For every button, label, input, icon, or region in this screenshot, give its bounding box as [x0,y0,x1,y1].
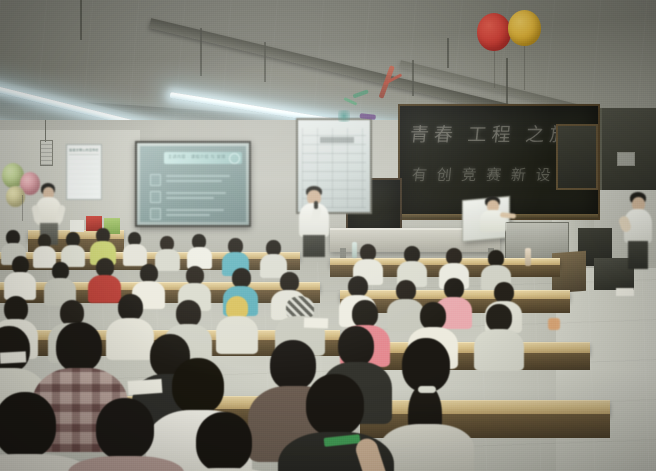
slide-title-text: 主讲内容 · 课程介绍 与 安排 [168,154,226,160]
audience-body [88,275,121,303]
light-hanger [447,38,449,68]
slide-text-line [166,180,222,182]
audience-head [338,326,374,366]
slide-bullet-marker [150,191,161,203]
audience-head [226,296,248,318]
audience-head [402,338,450,392]
bottle-on-desk [352,242,357,258]
framed-board-far-right [600,108,656,190]
light-hanger [80,0,82,40]
audience-body [387,299,424,331]
balloon-string [524,44,525,90]
whiteboard-highlight-row [320,137,354,143]
balloon-yellow [508,10,541,46]
hair-tie [418,386,436,393]
presenter-pants [303,235,325,257]
slide-bullet-marker [150,208,161,220]
audience-body [380,424,474,471]
slide-text-line [166,197,214,199]
audience-head [486,304,512,332]
audience-head-cap [286,296,314,318]
audience-head [348,276,368,297]
right-person-pants [628,241,648,269]
light-hanger [200,28,202,76]
poster-header: 班级文明公约宣传栏 [69,147,99,155]
audience-head [172,358,224,414]
bottle-on-desk [525,248,531,266]
audience-head [280,272,299,292]
light-hanger [264,42,266,82]
paper-on-desk [304,318,328,329]
balloon-red [477,13,511,51]
classroom-photo: 青春 工程 之旅 有 创 竞 赛 新 设 计 大 赛 主讲内容 · 课程介绍 与… [0,0,656,471]
audience-head [232,268,251,288]
blackboard-chalk-line-1: 青春 工程 之旅 [409,120,575,147]
paper-on-desk [128,379,163,395]
desk-row-1-right [360,400,610,415]
speaker-wire [45,120,46,142]
audience-body [216,316,258,354]
wall-poster: 班级文明公约宣传栏 [66,144,102,200]
projection-screen: 主讲内容 · 课程介绍 与 安排 [135,141,251,227]
slide-bullet-marker [150,174,161,186]
audience-body [474,329,524,371]
audience-head [96,398,154,460]
slide-text-line [166,214,210,216]
audience-body [155,249,180,271]
balloon-string [494,48,495,88]
cup-on-desk [548,318,560,330]
wall-speaker [40,140,53,166]
presenter-microphone [314,201,318,209]
slide-text-line [166,192,226,194]
streamer-teal [338,110,350,122]
light-hanger [412,60,414,96]
framed-board-right [556,124,598,190]
audience-head [494,282,514,303]
table-item-white-box [70,220,84,232]
small-notice [617,152,635,166]
audience-body [123,244,147,266]
paper-on-desk [616,288,634,296]
balloon-string [22,195,23,221]
audience-head [176,300,201,327]
audience-head [118,294,143,321]
audience-head [306,374,364,436]
audience-head [56,322,102,372]
audience-head [444,278,464,299]
slide-text-line [166,175,230,177]
slide-clock-icon [229,153,240,164]
audience-head [196,412,252,471]
paper-on-desk [0,351,26,363]
audience-head [270,340,316,390]
audience-head [420,302,446,330]
slide-text-line [166,209,224,211]
audience-head [352,300,378,328]
audience-head [0,392,56,458]
projected-slide: 主讲内容 · 课程介绍 与 安排 [140,146,246,222]
audience-body [106,318,154,360]
poster-body [69,155,99,197]
audience-head [396,280,416,301]
